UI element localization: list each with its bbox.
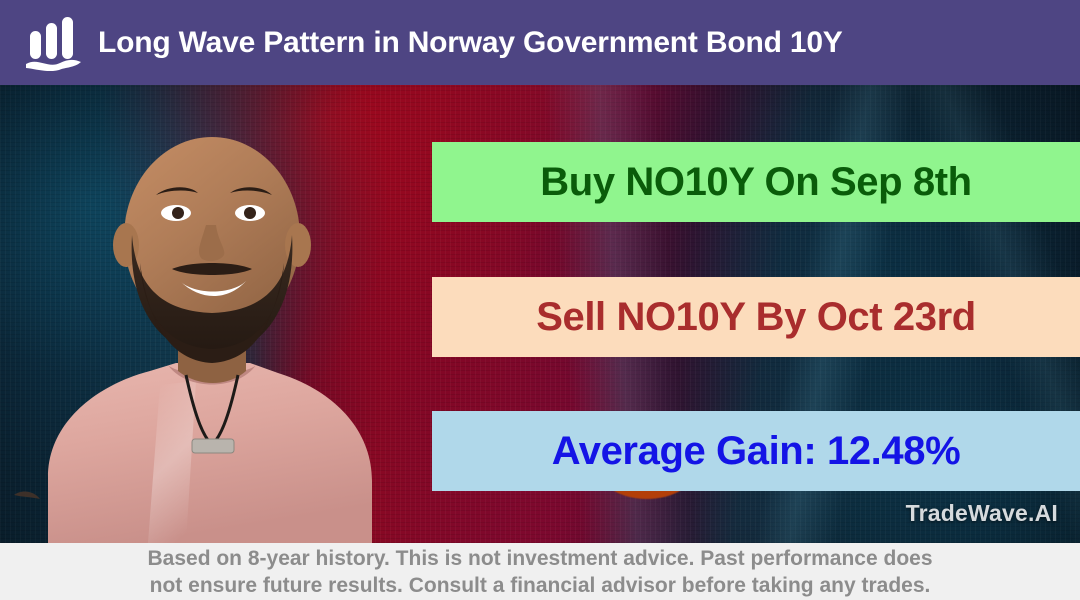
sell-signal-text: Sell NO10Y By Oct 23rd: [536, 295, 976, 340]
buy-signal-text: Buy NO10Y On Sep 8th: [540, 160, 971, 205]
promo-poster: Long Wave Pattern in Norway Government B…: [0, 0, 1080, 600]
left-pupil: [172, 207, 184, 219]
page-title: Long Wave Pattern in Norway Government B…: [98, 26, 843, 60]
presenter-illustration: [0, 85, 420, 543]
average-gain-banner: Average Gain: 12.48%: [432, 411, 1080, 491]
disclaimer-line-1: Based on 8-year history. This is not inv…: [147, 545, 932, 572]
right-pupil: [244, 207, 256, 219]
brand-watermark: TradeWave.AI: [906, 500, 1058, 527]
disclaimer-line-2: not ensure future results. Consult a fin…: [150, 572, 931, 599]
sell-signal-banner: Sell NO10Y By Oct 23rd: [432, 277, 1080, 357]
average-gain-text: Average Gain: 12.48%: [552, 429, 961, 474]
header-bar: Long Wave Pattern in Norway Government B…: [0, 0, 1080, 85]
presenter-photo: [0, 85, 420, 543]
buy-signal-banner: Buy NO10Y On Sep 8th: [432, 142, 1080, 222]
arm-tattoo: [14, 492, 40, 499]
three-bars-wave-logo-icon: [24, 15, 84, 71]
disclaimer-footer: Based on 8-year history. This is not inv…: [0, 543, 1080, 600]
necklace-pendant: [192, 439, 234, 453]
